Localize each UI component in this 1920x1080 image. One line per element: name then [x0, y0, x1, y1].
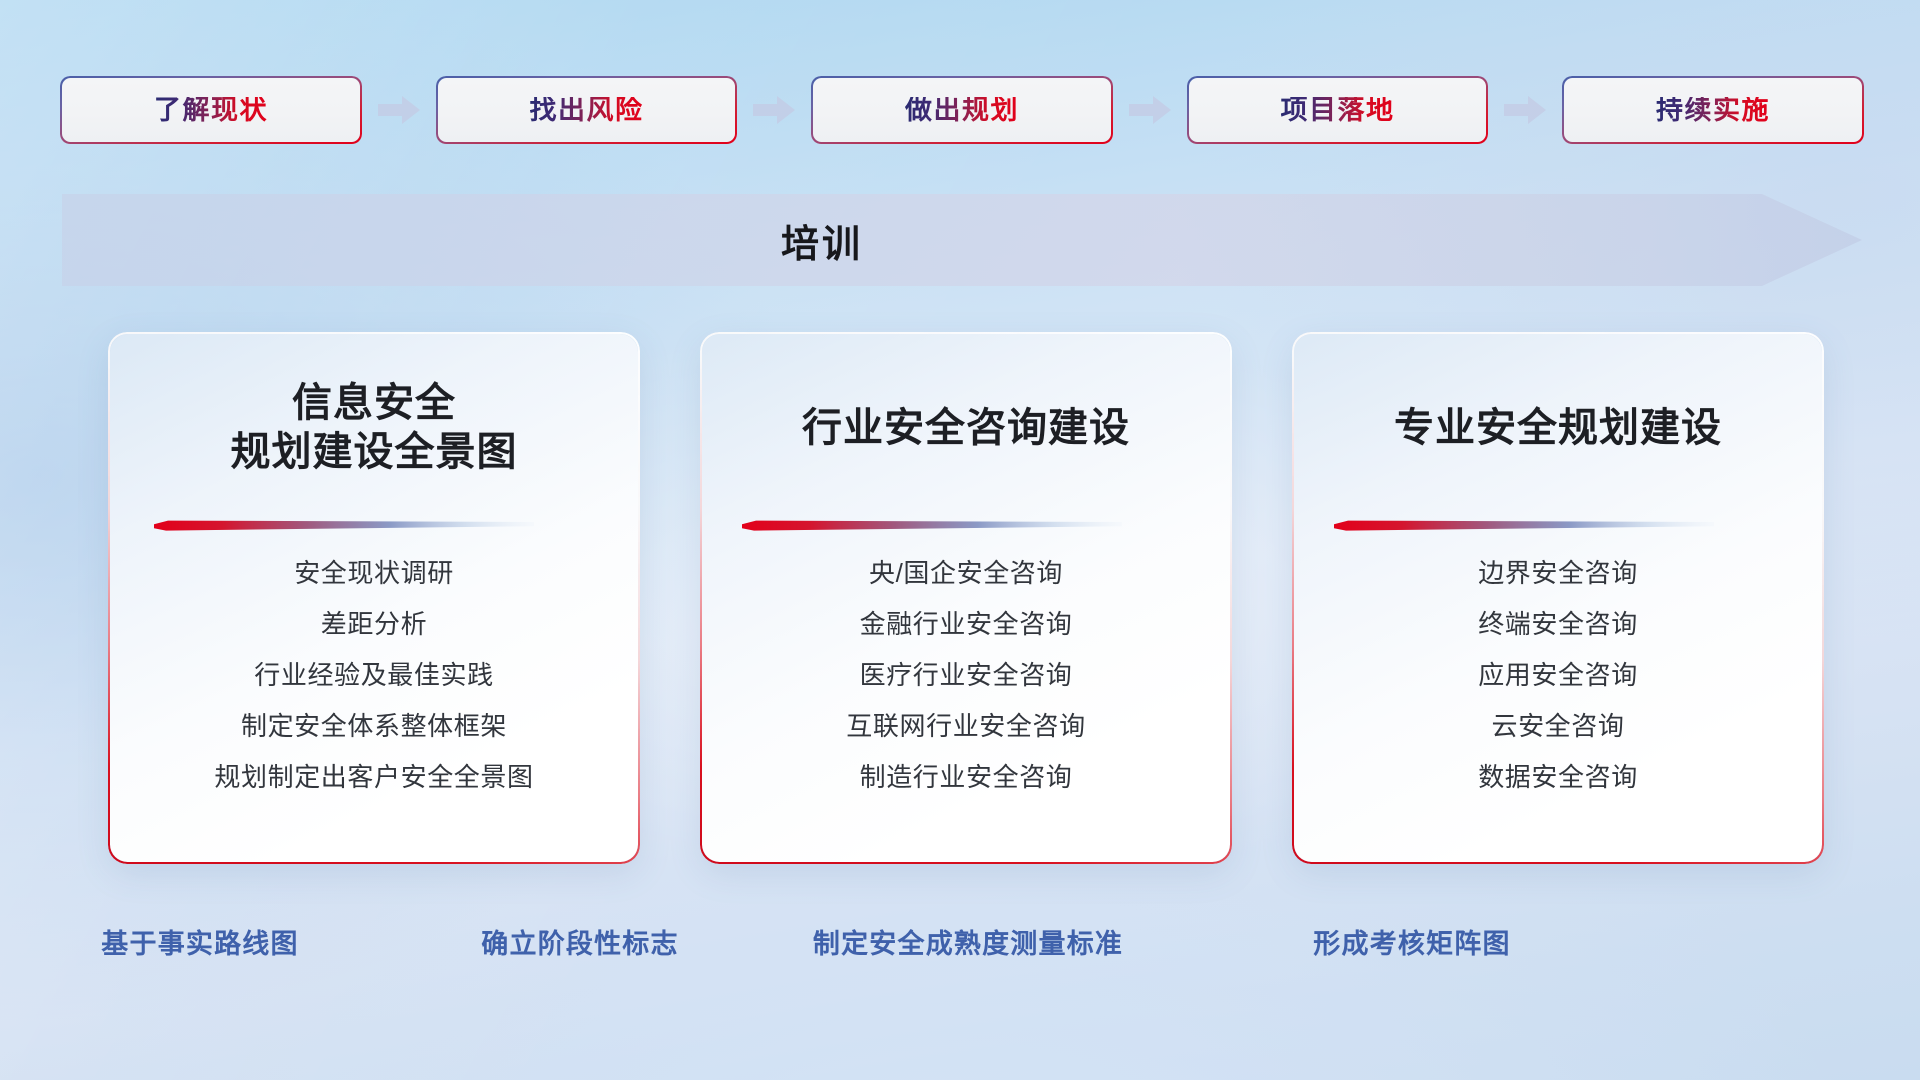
process-steps: 了解现状 找出风险 做出规划 项目落地 持续实施	[62, 78, 1862, 142]
training-banner: 培训	[62, 186, 1862, 294]
card-professional-security-planning[interactable]: 专业安全规划建设 边界安全咨询 终端安全咨询 应用安全咨	[1294, 334, 1822, 862]
list-item: 医疗行业安全咨询	[732, 649, 1200, 700]
caption-row: 基于事实路线图 确立阶段性标志 制定安全成熟度测量标准 形成考核矩阵图	[0, 928, 1920, 976]
list-item: 应用安全咨询	[1324, 649, 1792, 700]
arrow-right-icon	[376, 94, 422, 126]
slide-canvas: 了解现状 找出风险 做出规划 项目落地 持续实施	[0, 0, 1920, 1080]
card-industry-security-consulting[interactable]: 行业安全咨询建设 央/国企安全咨询 金融行业安全咨询 医	[702, 334, 1230, 862]
card-divider-icon	[154, 520, 534, 533]
list-item: 央/国企安全咨询	[732, 547, 1200, 598]
caption-label: 确立阶段性标志	[481, 928, 678, 960]
list-item: 数据安全咨询	[1324, 751, 1792, 802]
list-item: 规划制定出客户安全全景图	[140, 751, 608, 802]
card-information-security-blueprint[interactable]: 信息安全 规划建设全景图 安全现状调研 差距分析 行业经	[110, 334, 638, 862]
list-item: 制造行业安全咨询	[732, 751, 1200, 802]
step-label: 项目落地	[1281, 97, 1395, 124]
step-pill-3[interactable]: 做出规划	[813, 78, 1111, 142]
caption-label: 基于事实路线图	[101, 928, 298, 960]
card-divider-icon	[742, 520, 1122, 533]
step-label: 做出规划	[905, 97, 1019, 124]
list-item: 终端安全咨询	[1324, 598, 1792, 649]
card-row: 信息安全 规划建设全景图 安全现状调研 差距分析 行业经	[110, 334, 1822, 862]
list-item: 边界安全咨询	[1324, 547, 1792, 598]
step-label: 找出风险	[530, 97, 644, 124]
list-item: 互联网行业安全咨询	[732, 700, 1200, 751]
arrow-right-icon	[1502, 94, 1548, 126]
list-item: 云安全咨询	[1324, 700, 1792, 751]
card-item-list: 安全现状调研 差距分析 行业经验及最佳实践 制定安全体系整体框架 规划制定出客户…	[140, 547, 608, 802]
banner-label: 培训	[62, 186, 1582, 294]
caption-label: 制定安全成熟度测量标准	[813, 928, 1123, 960]
list-item: 金融行业安全咨询	[732, 598, 1200, 649]
card-title: 专业安全规划建设	[1324, 334, 1792, 516]
step-pill-4[interactable]: 项目落地	[1189, 78, 1487, 142]
card-title: 信息安全 规划建设全景图	[140, 334, 608, 516]
step-pill-5[interactable]: 持续实施	[1564, 78, 1862, 142]
arrow-right-icon	[751, 94, 797, 126]
list-item: 差距分析	[140, 598, 608, 649]
card-item-list: 边界安全咨询 终端安全咨询 应用安全咨询 云安全咨询 数据安全咨询	[1324, 547, 1792, 802]
step-pill-1[interactable]: 了解现状	[62, 78, 360, 142]
step-pill-2[interactable]: 找出风险	[438, 78, 736, 142]
caption-label: 形成考核矩阵图	[1313, 928, 1510, 960]
card-title: 行业安全咨询建设	[732, 334, 1200, 516]
list-item: 安全现状调研	[140, 547, 608, 598]
arrow-right-icon	[1127, 94, 1173, 126]
step-label: 持续实施	[1656, 97, 1770, 124]
step-label: 了解现状	[154, 97, 268, 124]
card-item-list: 央/国企安全咨询 金融行业安全咨询 医疗行业安全咨询 互联网行业安全咨询 制造行…	[732, 547, 1200, 802]
list-item: 行业经验及最佳实践	[140, 649, 608, 700]
list-item: 制定安全体系整体框架	[140, 700, 608, 751]
card-divider-icon	[1334, 520, 1714, 533]
